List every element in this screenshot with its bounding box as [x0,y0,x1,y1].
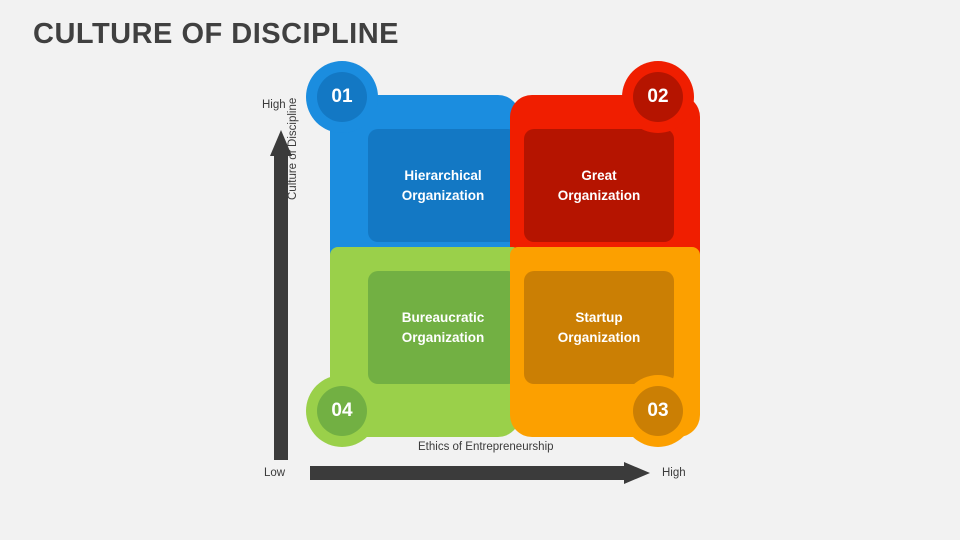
x-axis-low-label: Low [264,467,285,479]
quadrant-label-line2: Organization [402,330,485,345]
quadrant-label-card: Hierarchical Organization [368,129,518,242]
quadrant-label-card: Great Organization [524,129,674,242]
badge-inner: 04 [317,386,367,436]
badge-number: 03 [647,400,668,422]
quadrant-label-line1: Hierarchical [404,168,481,183]
y-axis-title: Culture of Discipline [287,98,299,200]
quadrant-label-card: Startup Organization [524,271,674,384]
x-axis-high-label: High [662,467,686,479]
quadrant-matrix: Hierarchical Organization Great Organiza… [300,55,720,455]
x-axis-arrow [310,462,650,484]
quadrant-label-text: Hierarchical Organization [402,166,485,205]
slide-canvas: CULTURE OF DISCIPLINE High Low High Cult… [0,0,960,540]
badge-inner: 01 [317,72,367,122]
quadrant-number-badge-04[interactable]: 04 [306,375,378,447]
quadrant-number-badge-03[interactable]: 03 [622,375,694,447]
quadrant-label-line2: Organization [402,188,485,203]
quadrant-label-line1: Great [581,168,616,183]
quadrant-number-badge-02[interactable]: 02 [622,61,694,133]
page-title: CULTURE OF DISCIPLINE [33,18,399,51]
quadrant-label-text: Startup Organization [558,308,641,347]
badge-inner: 02 [633,72,683,122]
quadrant-label-line2: Organization [558,188,641,203]
quadrant-label-line1: Bureaucratic [402,310,485,325]
badge-number: 01 [331,86,352,108]
badge-number: 02 [647,86,668,108]
quadrant-label-line1: Startup [575,310,622,325]
quadrant-label-card: Bureaucratic Organization [368,271,518,384]
quadrant-label-text: Great Organization [558,166,641,205]
quadrant-label-text: Bureaucratic Organization [402,308,485,347]
quadrant-label-line2: Organization [558,330,641,345]
y-axis-high-label: High [262,99,286,111]
quadrant-number-badge-01[interactable]: 01 [306,61,378,133]
badge-number: 04 [331,400,352,422]
badge-inner: 03 [633,386,683,436]
